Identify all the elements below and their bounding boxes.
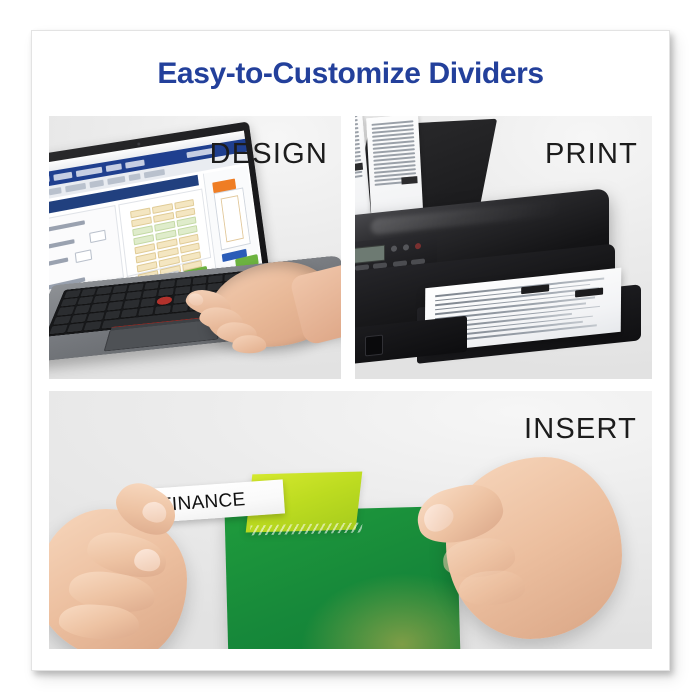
hand-on-keyboard — [163, 237, 341, 373]
sheet-tab-mark — [401, 176, 417, 184]
panel-insert: FINANCE — [49, 391, 652, 649]
step-label-print: PRINT — [545, 138, 638, 171]
finger-pinky — [232, 335, 266, 353]
divider-preview-thumb — [214, 187, 251, 250]
printer-illustration — [355, 146, 652, 379]
step-label-insert: INSERT — [524, 413, 637, 446]
panel-print: PRINT — [355, 116, 652, 379]
fingernail — [133, 547, 162, 572]
left-hand — [49, 469, 247, 649]
printer-lcd-display — [355, 245, 385, 264]
right-hand — [397, 443, 612, 649]
printer-button[interactable] — [403, 244, 409, 251]
product-card: Easy-to-Customize Dividers — [31, 30, 670, 671]
fingernail — [419, 498, 458, 536]
printer-usb-slot — [365, 335, 383, 357]
page-title: Easy-to-Customize Dividers — [32, 57, 669, 91]
printer-button[interactable] — [391, 245, 397, 252]
printer-power-button[interactable] — [415, 243, 421, 250]
product-infographic: Easy-to-Customize Dividers — [0, 0, 700, 700]
fingernail — [140, 499, 169, 525]
step-label-design: DESIGN — [210, 138, 328, 171]
fingernail — [187, 292, 205, 308]
panel-design: DESIGN — [49, 116, 341, 379]
